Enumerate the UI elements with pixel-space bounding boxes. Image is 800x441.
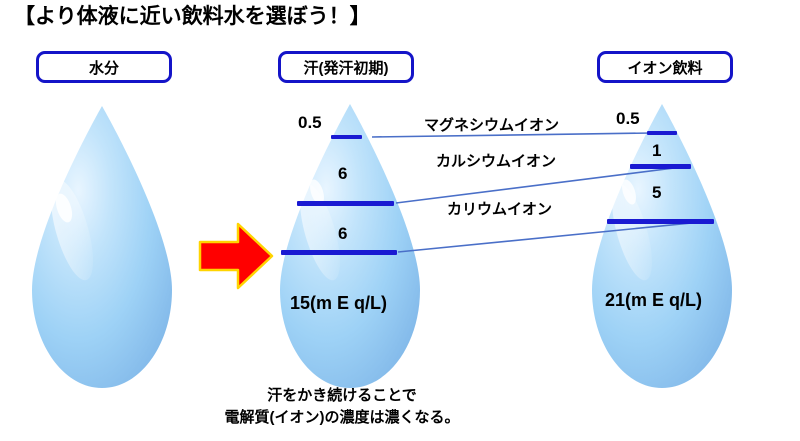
level-bar-ion-calcium <box>630 164 691 169</box>
annotation-magnesium-ion: マグネシウムイオン <box>424 114 559 135</box>
value-ion-total: 21(m E q/L) <box>605 290 702 311</box>
label-box-water-text: 水分 <box>89 57 119 78</box>
value-ion-potassium: 5 <box>652 183 661 203</box>
water-drop-shape-sweat <box>272 100 428 392</box>
bottom-caption-line1: 汗をかき続けることで <box>192 385 492 407</box>
value-ion-calcium: 1 <box>652 141 661 161</box>
value-sweat-potassium: 6 <box>338 224 347 244</box>
value-sweat-calcium: 6 <box>338 164 347 184</box>
level-bar-ion-potassium <box>607 219 714 224</box>
label-box-ion-drink-text: イオン飲料 <box>627 57 702 78</box>
level-bar-sweat-calcium <box>297 201 394 206</box>
value-ion-magnesium: 0.5 <box>616 109 640 129</box>
infographic-canvas: 【より体液に近い飲料水を選ぼう！】 水分 汗(発汗初期) イオン飲料 <box>0 0 800 441</box>
page-title: 【より体液に近い飲料水を選ぼう！】 <box>14 3 371 31</box>
label-box-sweat: 汗(発汗初期) <box>278 51 414 83</box>
value-sweat-total: 15(m E q/L) <box>290 293 387 314</box>
water-drop-shape-water <box>24 100 180 392</box>
annotation-potassium-ion: カリウムイオン <box>447 198 552 219</box>
water-drop-shape-ion-drink <box>586 100 742 392</box>
level-bar-ion-magnesium <box>647 131 677 135</box>
annotation-calcium-ion: カルシウムイオン <box>436 150 556 171</box>
label-box-sweat-text: 汗(発汗初期) <box>304 57 389 78</box>
label-box-ion-drink: イオン飲料 <box>597 51 733 83</box>
right-arrow-icon <box>198 220 274 292</box>
level-bar-sweat-magnesium <box>331 135 362 139</box>
level-bar-sweat-potassium <box>281 250 397 255</box>
value-sweat-magnesium: 0.5 <box>298 113 322 133</box>
bottom-caption-line2: 電解質(イオン)の濃度は濃くなる。 <box>192 407 492 429</box>
label-box-water: 水分 <box>36 51 172 83</box>
bottom-caption: 汗をかき続けることで 電解質(イオン)の濃度は濃くなる。 <box>192 385 492 429</box>
